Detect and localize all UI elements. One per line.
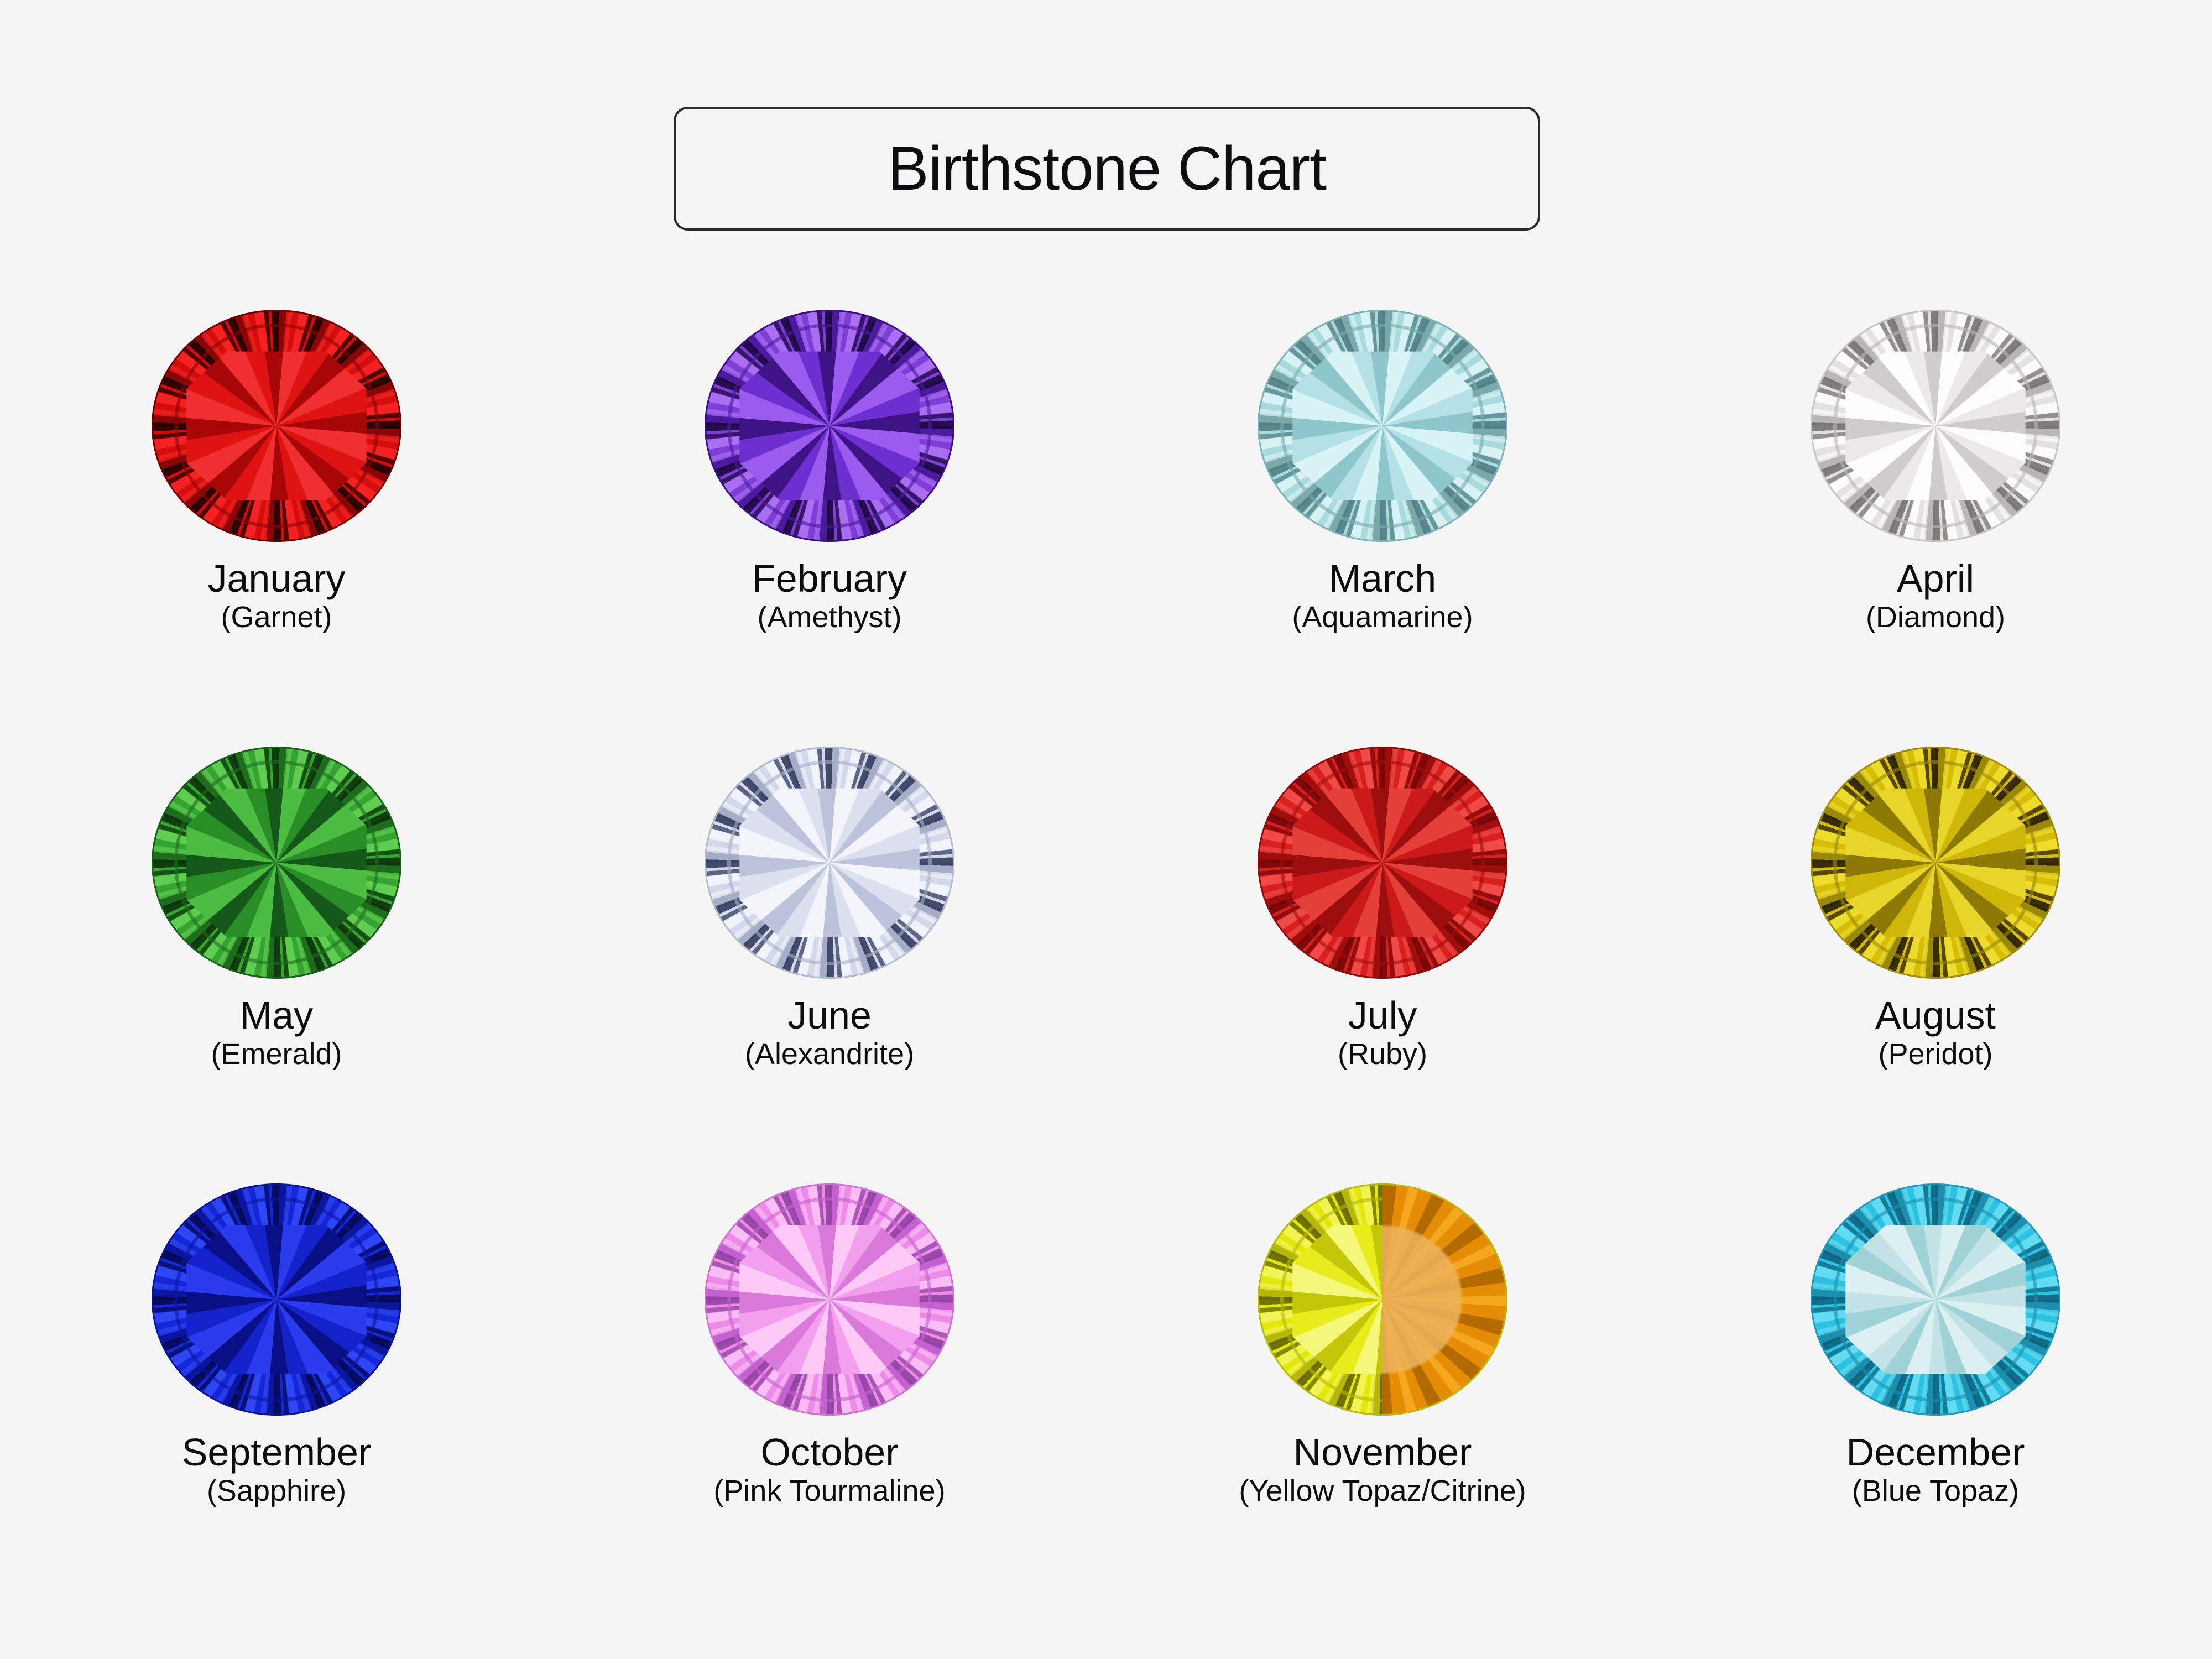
diamond-gem (1811, 310, 2060, 542)
stone-name-label: (Aquamarine) (1292, 602, 1473, 633)
peridot-gem (1811, 747, 2060, 979)
sapphire-gem (152, 1183, 401, 1416)
birthstone-cell: March(Aquamarine) (1123, 310, 1642, 747)
stone-name-label: (Emerald) (211, 1039, 342, 1070)
gem-facet-layer (152, 747, 401, 979)
month-label: September (182, 1432, 371, 1473)
birthstone-cell: August(Peridot) (1676, 747, 2195, 1183)
birthstone-cell: February(Amethyst) (570, 310, 1089, 747)
stone-name-label: (Pink Tourmaline) (713, 1475, 945, 1507)
stone-name-label: (Garnet) (221, 602, 332, 633)
stone-name-label: (Peridot) (1878, 1039, 1992, 1070)
month-label: July (1348, 995, 1417, 1036)
gem-facet-layer (705, 747, 954, 979)
gem-facet-layer (1811, 310, 2060, 542)
alexandrite-gem (705, 747, 954, 979)
month-label: March (1329, 559, 1436, 599)
month-label: October (761, 1432, 899, 1473)
birthstone-cell: November(Yellow Topaz/Citrine) (1123, 1183, 1642, 1620)
aquamarine-gem (1258, 310, 1507, 542)
gem-rim (1258, 1183, 1507, 1416)
month-label: December (1846, 1432, 2025, 1473)
gem-facet-layer (1258, 310, 1507, 542)
birthstone-cell: October(Pink Tourmaline) (570, 1183, 1089, 1620)
blue-topaz-gem (1811, 1183, 2060, 1416)
stone-name-label: (Sapphire) (207, 1475, 346, 1507)
stone-name-label: (Amethyst) (757, 602, 901, 633)
gem-facet-layer (152, 1183, 401, 1416)
gem-facet-layer (705, 310, 954, 542)
stone-name-label: (Yellow Topaz/Citrine) (1239, 1475, 1526, 1507)
stone-name-label: (Ruby) (1338, 1039, 1427, 1070)
month-label: January (207, 559, 345, 599)
pink-tourmaline-gem (705, 1183, 954, 1416)
garnet-gem (152, 310, 401, 542)
stone-name-label: (Blue Topaz) (1852, 1475, 2019, 1507)
month-label: April (1897, 559, 1974, 599)
birthstone-chart-page: Birthstone Chart January(Garnet)February… (0, 0, 2212, 1659)
month-label: May (240, 995, 313, 1036)
month-label: August (1875, 995, 1996, 1036)
gem-facet-layer (705, 1183, 954, 1416)
stone-name-label: (Diamond) (1866, 602, 2005, 633)
gem-facet-layer (1258, 747, 1507, 979)
emerald-gem (152, 747, 401, 979)
page-title: Birthstone Chart (888, 138, 1326, 200)
birthstone-cell: July(Ruby) (1123, 747, 1642, 1183)
month-label: February (752, 559, 907, 599)
yellow-topaz-citrine-gem (1258, 1183, 1507, 1416)
month-label: June (787, 995, 872, 1036)
page-title-box: Birthstone Chart (674, 107, 1540, 231)
amethyst-gem (705, 310, 954, 542)
ruby-gem (1258, 747, 1507, 979)
birthstone-cell: April(Diamond) (1676, 310, 2195, 747)
gem-facet-layer (1811, 747, 2060, 979)
birthstone-cell: January(Garnet) (17, 310, 536, 747)
birthstone-cell: June(Alexandrite) (570, 747, 1089, 1183)
month-label: November (1293, 1432, 1472, 1473)
birthstone-cell: September(Sapphire) (17, 1183, 536, 1620)
stone-name-label: (Alexandrite) (745, 1039, 914, 1070)
gem-facet-layer (1811, 1183, 2060, 1416)
birthstone-cell: May(Emerald) (17, 747, 536, 1183)
birthstone-cell: December(Blue Topaz) (1676, 1183, 2195, 1620)
gem-facet-layer (152, 310, 401, 542)
birthstone-grid: January(Garnet)February(Amethyst)March(A… (0, 310, 2212, 1620)
